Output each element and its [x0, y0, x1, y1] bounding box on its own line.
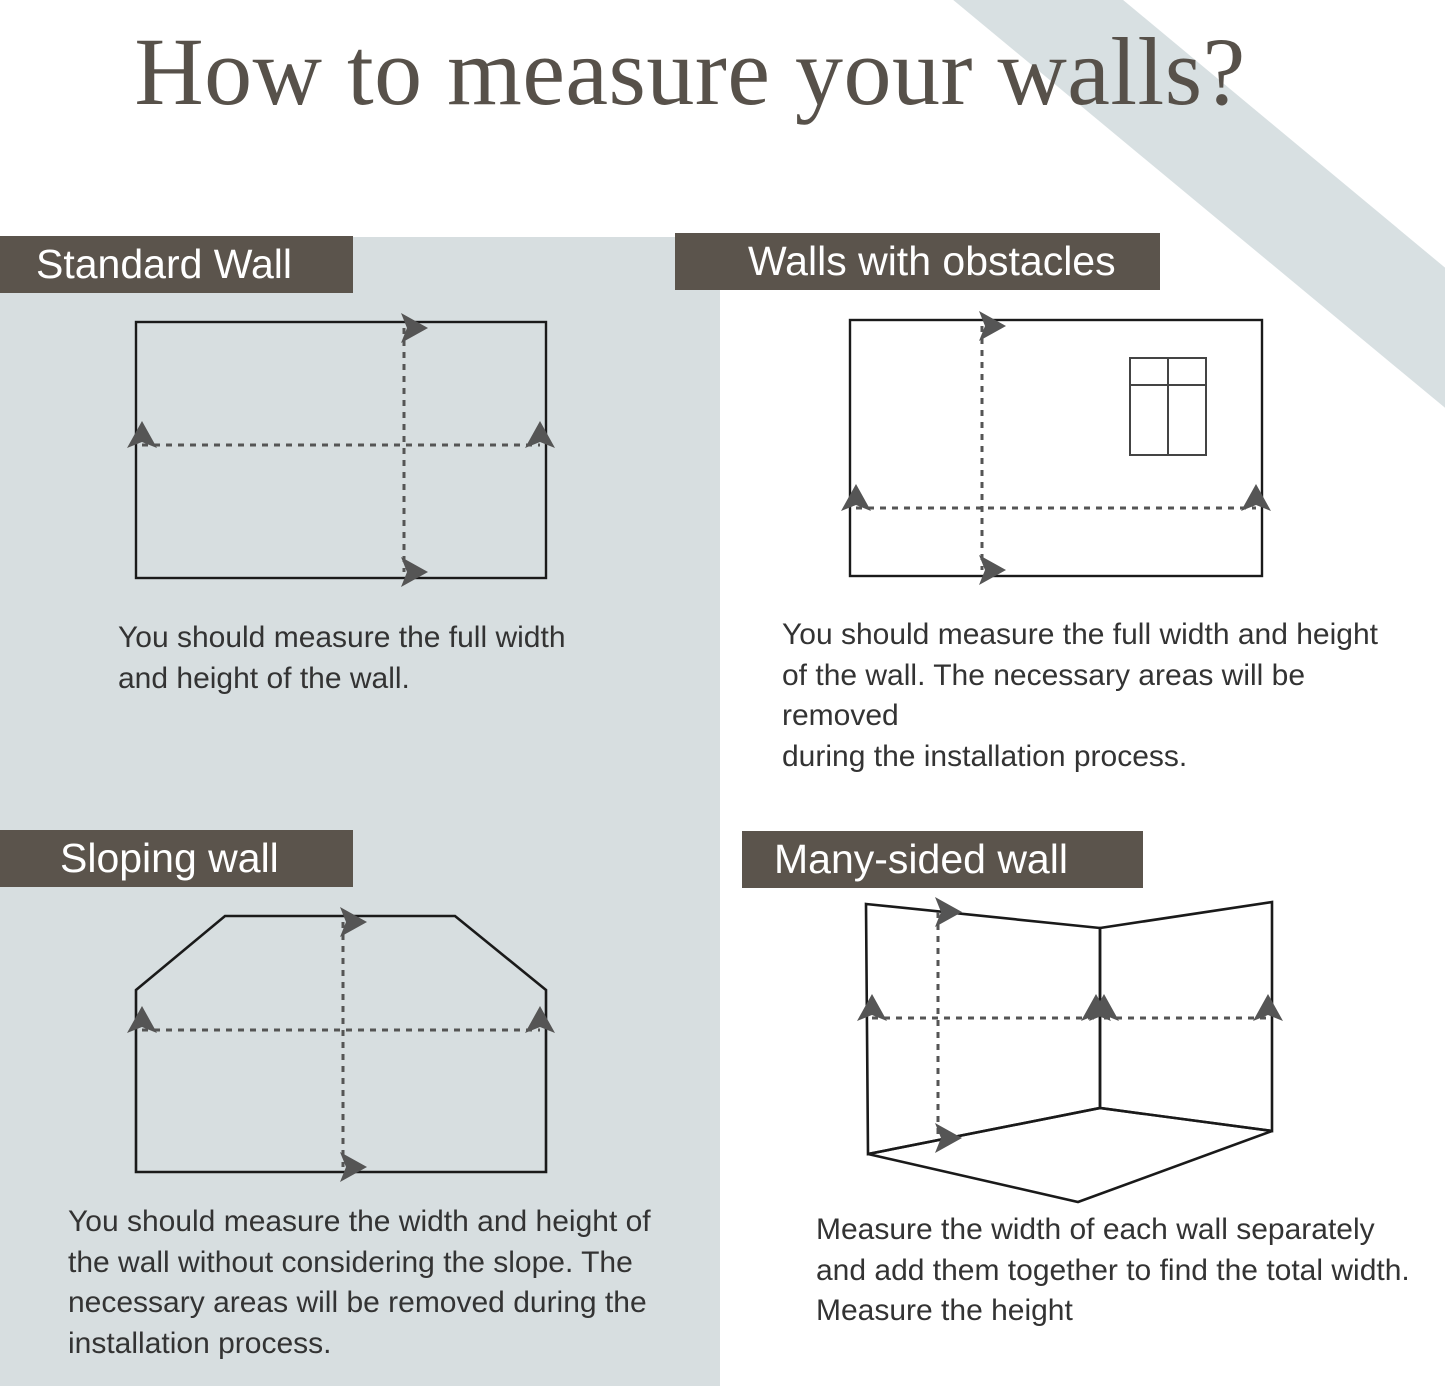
- section-heading-sloping-wall-label: Sloping wall: [60, 838, 279, 879]
- caption-many-sided-wall: Measure the width of each wall separatel…: [816, 1210, 1436, 1332]
- page-title: How to measure your walls?: [0, 22, 1380, 123]
- section-heading-standard-wall: Standard Wall: [0, 236, 353, 293]
- infographic-page: How to measure your walls? Standard Wall…: [0, 0, 1445, 1386]
- wall-outline: [136, 322, 546, 578]
- caption-walls-with-obstacles: You should measure the full width and he…: [782, 615, 1422, 777]
- section-heading-many-sided-wall: Many-sided wall: [742, 831, 1143, 888]
- section-heading-walls-with-obstacles: Walls with obstacles: [675, 233, 1160, 290]
- sloping-wall-diagram: [110, 890, 580, 1200]
- section-heading-walls-with-obstacles-label: Walls with obstacles: [748, 241, 1116, 282]
- caption-standard-wall: You should measure the full width and he…: [118, 618, 638, 699]
- section-heading-standard-wall-label: Standard Wall: [36, 244, 292, 285]
- left-wall-face: [866, 904, 1100, 1154]
- section-heading-sloping-wall: Sloping wall: [0, 830, 353, 887]
- many-sided-wall-diagram: [840, 890, 1310, 1215]
- wall-outline: [136, 916, 546, 1172]
- right-wall-face: [1100, 902, 1272, 1131]
- window-obstacle-icon: [1130, 358, 1206, 455]
- standard-wall-diagram: [110, 300, 580, 600]
- floor-face: [868, 1108, 1272, 1202]
- section-heading-many-sided-wall-label: Many-sided wall: [774, 839, 1068, 880]
- caption-sloping-wall: You should measure the width and height …: [68, 1202, 668, 1364]
- walls-with-obstacles-diagram: [830, 300, 1290, 600]
